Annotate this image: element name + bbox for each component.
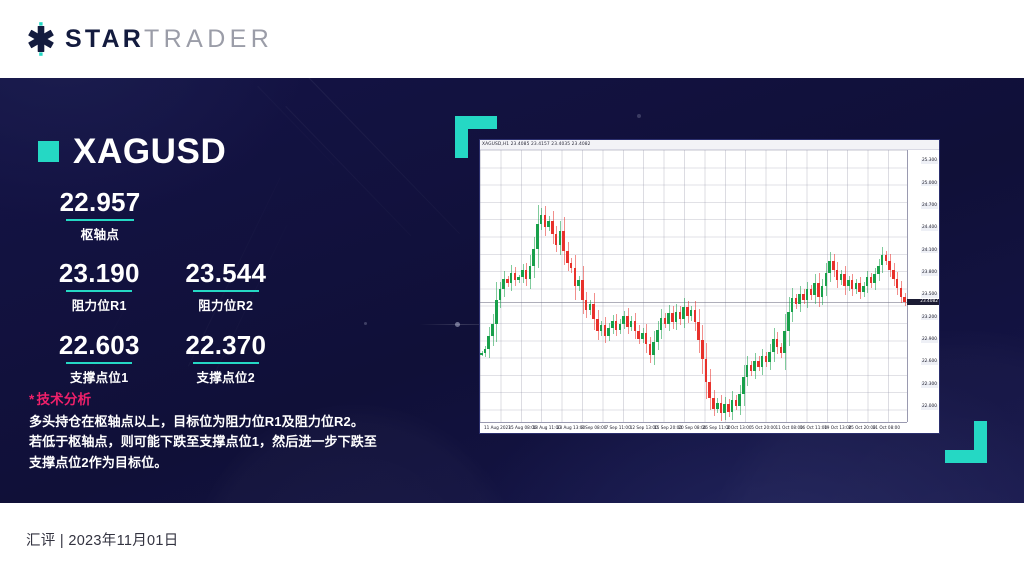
candle-body xyxy=(682,307,685,319)
analysis-body: 多头持仓在枢轴点以上，目标位为阻力位R1及阻力位R2。 若低于枢轴点，则可能下跌… xyxy=(29,412,409,473)
current-price-label: 23.4082 xyxy=(907,299,939,305)
candle-body xyxy=(903,297,906,302)
candle-body xyxy=(514,273,517,280)
candle-body xyxy=(798,294,801,304)
candle-body xyxy=(712,398,715,408)
time-tick-label: 31 Oct 08:00 xyxy=(873,425,900,430)
pivot-row-resistance: 23.190 阻力位R1 23.544 阻力位R2 xyxy=(0,259,300,314)
price-tick-label: 25.300 xyxy=(921,159,938,164)
candle-body xyxy=(765,356,768,362)
candle-body xyxy=(596,319,599,331)
candle-body xyxy=(723,404,726,413)
candle-body xyxy=(746,365,749,377)
candle-body xyxy=(679,312,682,319)
candle-body xyxy=(870,277,873,283)
candle-body xyxy=(757,361,760,367)
candle-body xyxy=(877,266,880,275)
page-title: XAGUSD xyxy=(73,134,226,169)
candle-body xyxy=(731,400,734,412)
candle-body xyxy=(855,283,858,289)
candle-body xyxy=(660,318,663,330)
asterisk-star-icon xyxy=(24,22,58,56)
pivot-point-value: 22.957 xyxy=(0,188,200,217)
candle-body xyxy=(772,339,775,352)
candle-body xyxy=(577,280,580,286)
candle-body xyxy=(701,340,704,359)
candle-body xyxy=(540,215,543,224)
footer-text: 汇评 | 2023年11月01日 xyxy=(26,529,179,550)
candle-body xyxy=(555,234,558,244)
chart-titlebar: XAGUSD,H1 23.4085 23.4157 23.4035 23.408… xyxy=(480,140,939,150)
candle-body xyxy=(634,321,637,331)
candle-body xyxy=(825,273,828,286)
candle-body xyxy=(828,261,831,273)
candle-body xyxy=(491,324,494,337)
decor-dot-2 xyxy=(364,322,367,325)
candle-body xyxy=(847,280,850,286)
brand-name: STARTRADER xyxy=(65,27,273,52)
candle-body xyxy=(671,313,674,322)
chart-time-axis: 11 Aug 202315 Aug 08:0018 Aug 11:0023 Au… xyxy=(480,422,907,433)
candle-body xyxy=(544,215,547,227)
candle-body xyxy=(780,347,783,353)
candle-body xyxy=(776,339,779,348)
candle-body xyxy=(750,365,753,371)
chart-price-axis: 25.30025.00024.70024.40024.10023.80023.5… xyxy=(907,150,939,422)
candle-body xyxy=(487,336,490,349)
decor-streak-2 xyxy=(285,106,411,236)
price-tick-label: 22.900 xyxy=(921,338,938,343)
candle-body xyxy=(843,274,846,286)
candle-body xyxy=(862,286,865,292)
candle-body xyxy=(686,307,689,316)
candle-body xyxy=(626,316,629,326)
candle-body xyxy=(652,342,655,355)
candle-body xyxy=(810,289,813,295)
candle-body xyxy=(645,333,648,345)
time-tick-label: 16 Oct 11:00 xyxy=(800,425,827,430)
candle-body xyxy=(559,231,562,244)
pivot-row-main: 22.957 枢轴点 xyxy=(0,188,300,243)
support-2-block: 22.370 支撑点位2 xyxy=(152,331,301,386)
resistance-2-value: 23.544 xyxy=(152,259,301,288)
chart-titlebar-text: XAGUSD,H1 23.4085 23.4157 23.4035 23.408… xyxy=(482,142,591,147)
candle-body xyxy=(836,270,839,280)
time-tick-label: 19 Oct 13:00 xyxy=(824,425,851,430)
instrument-title: XAGUSD xyxy=(38,134,226,169)
candle-body xyxy=(502,279,505,289)
bracket-top-left-vertical xyxy=(455,116,468,158)
candle-body xyxy=(484,349,487,353)
brand-name-bold: STAR xyxy=(65,25,144,53)
candle-body xyxy=(705,359,708,381)
candle-body xyxy=(858,283,861,292)
bracket-bottom-right-vertical xyxy=(974,421,987,463)
candle-body xyxy=(551,221,554,234)
candle-body xyxy=(607,328,610,335)
brand-logo[interactable]: STARTRADER xyxy=(24,22,273,56)
support-2-underline xyxy=(193,362,259,365)
candle-body xyxy=(892,270,895,279)
candle-body xyxy=(742,377,745,393)
candle-body xyxy=(649,344,652,354)
pivot-point-label: 枢轴点 xyxy=(0,224,200,243)
candle-body xyxy=(783,331,786,353)
time-tick-label: 11 Aug 2023 xyxy=(484,425,511,430)
analysis-line-3: 支撑点位2作为目标位。 xyxy=(29,453,409,473)
candle-body xyxy=(592,304,595,319)
candle-body xyxy=(735,400,738,406)
price-tick-label: 24.700 xyxy=(921,203,938,208)
analysis-line-1: 多头持仓在枢轴点以上，目标位为阻力位R1及阻力位R2。 xyxy=(29,412,409,432)
support-2-label: 支撑点位2 xyxy=(152,367,301,386)
pivot-point-underline xyxy=(66,219,134,222)
resistance-2-underline xyxy=(193,290,259,293)
candle-body xyxy=(570,263,573,269)
candle-body xyxy=(611,321,614,328)
candle-body xyxy=(600,325,603,331)
candle-body xyxy=(615,321,618,330)
candle-body xyxy=(888,261,891,270)
candle-body xyxy=(885,255,888,261)
candle-body xyxy=(499,289,502,299)
decor-streak-1 xyxy=(299,78,460,234)
candle-body xyxy=(664,318,667,324)
candle-body xyxy=(562,231,565,250)
candle-body xyxy=(690,310,693,316)
price-tick-label: 25.000 xyxy=(921,181,938,186)
candle-body xyxy=(547,221,550,227)
candle-body xyxy=(802,294,805,300)
time-tick-label: 25 Oct 20:00 xyxy=(848,425,875,430)
candle-body xyxy=(510,273,513,283)
price-tick-label: 23.200 xyxy=(921,315,938,320)
analysis-line-2: 若低于枢轴点，则可能下跌至支撑点位1，然后进一步下跌至 xyxy=(29,432,409,452)
candle-body xyxy=(896,279,899,288)
candle-body xyxy=(585,300,588,310)
page-footer: 汇评 | 2023年11月01日 xyxy=(0,503,1024,576)
chart-plot-area[interactable] xyxy=(480,150,907,422)
candle-body xyxy=(873,274,876,283)
candle-body xyxy=(675,312,678,322)
candle-body xyxy=(768,352,771,362)
candle-body xyxy=(495,300,498,324)
instrument-marker-square xyxy=(38,141,59,162)
candle-body xyxy=(821,286,824,296)
time-tick-label: 7 Sep 11:00 xyxy=(605,425,630,430)
candle-body xyxy=(753,361,756,371)
decor-dot-3 xyxy=(637,114,641,118)
candle-body xyxy=(806,289,809,299)
candle-body xyxy=(791,298,794,311)
candle-body xyxy=(667,313,670,323)
brand-name-light: TRADER xyxy=(144,25,273,53)
bracket-bottom-right xyxy=(945,421,987,463)
time-tick-label: 8 Sep 08:00 xyxy=(581,425,606,430)
decor-streak-3 xyxy=(257,86,334,166)
candle-body xyxy=(720,403,723,413)
resistance-2-label: 阻力位R2 xyxy=(152,295,301,314)
mt4-chart-window[interactable]: XAGUSD,H1 23.4085 23.4157 23.4035 23.408… xyxy=(479,139,940,434)
pivot-row-support: 22.603 支撑点位1 22.370 支撑点位2 xyxy=(0,331,300,386)
decor-dot-1 xyxy=(455,322,460,327)
candle-body xyxy=(708,382,711,398)
candle-body xyxy=(630,321,633,327)
candle-body xyxy=(619,324,622,330)
analysis-heading-text: 技术分析 xyxy=(36,392,91,407)
candle-body xyxy=(525,270,528,279)
candle-body xyxy=(900,288,903,297)
candle-body xyxy=(656,330,659,342)
candle-body xyxy=(832,261,835,270)
price-tick-label: 22.300 xyxy=(921,382,938,387)
candle-body xyxy=(536,224,539,249)
pivot-levels-panel: 22.957 枢轴点 23.190 阻力位R1 23.544 阻力位R2 22.… xyxy=(0,188,300,386)
candle-body xyxy=(738,394,741,406)
candle-body xyxy=(727,404,730,411)
analysis-asterisk: * xyxy=(29,392,34,407)
pivot-point-block: 22.957 枢轴点 xyxy=(0,188,200,243)
candle-body xyxy=(694,310,697,322)
candle-body xyxy=(604,325,607,335)
candle-body xyxy=(787,312,790,331)
technical-analysis-block: *技术分析 多头持仓在枢轴点以上，目标位为阻力位R1及阻力位R2。 若低于枢轴点… xyxy=(29,388,409,473)
candle-body xyxy=(866,277,869,286)
candle-body xyxy=(506,279,509,283)
price-tick-label: 22.600 xyxy=(921,360,938,365)
time-tick-label: 2 Oct 13:00 xyxy=(727,425,752,430)
resistance-2-block: 23.544 阻力位R2 xyxy=(152,259,301,314)
candle-body xyxy=(697,322,700,340)
candle-body xyxy=(480,353,483,354)
candle-body xyxy=(641,333,644,339)
candle-body xyxy=(716,403,719,409)
candle-body xyxy=(795,298,798,304)
candle-body xyxy=(589,304,592,310)
price-tick-label: 23.500 xyxy=(921,293,938,298)
candle-body xyxy=(622,316,625,323)
analysis-heading: *技术分析 xyxy=(29,388,409,408)
price-tick-label: 22.000 xyxy=(921,405,938,410)
support-1-underline xyxy=(66,362,132,365)
candle-body xyxy=(566,251,569,263)
candle-body xyxy=(574,268,577,286)
candle-body xyxy=(517,277,520,280)
price-tick-label: 24.100 xyxy=(921,248,938,253)
candle-body xyxy=(840,274,843,280)
candle-body xyxy=(581,280,584,299)
candle-body xyxy=(529,266,532,279)
candle-body xyxy=(851,280,854,289)
candle-body xyxy=(813,283,816,295)
time-tick-label: 5 Oct 20:00 xyxy=(751,425,776,430)
support-2-value: 22.370 xyxy=(152,331,301,360)
candle-body xyxy=(881,255,884,265)
candle-body xyxy=(817,283,820,296)
time-tick-label: 11 Oct 08:00 xyxy=(776,425,803,430)
price-tick-label: 23.800 xyxy=(921,270,938,275)
price-tick-label: 24.400 xyxy=(921,226,938,231)
candle-body xyxy=(761,356,764,366)
page-header: STARTRADER xyxy=(0,0,1024,78)
candle-body xyxy=(637,331,640,338)
candle-body xyxy=(532,249,535,265)
candle-body xyxy=(521,270,524,277)
resistance-1-underline xyxy=(66,290,132,293)
